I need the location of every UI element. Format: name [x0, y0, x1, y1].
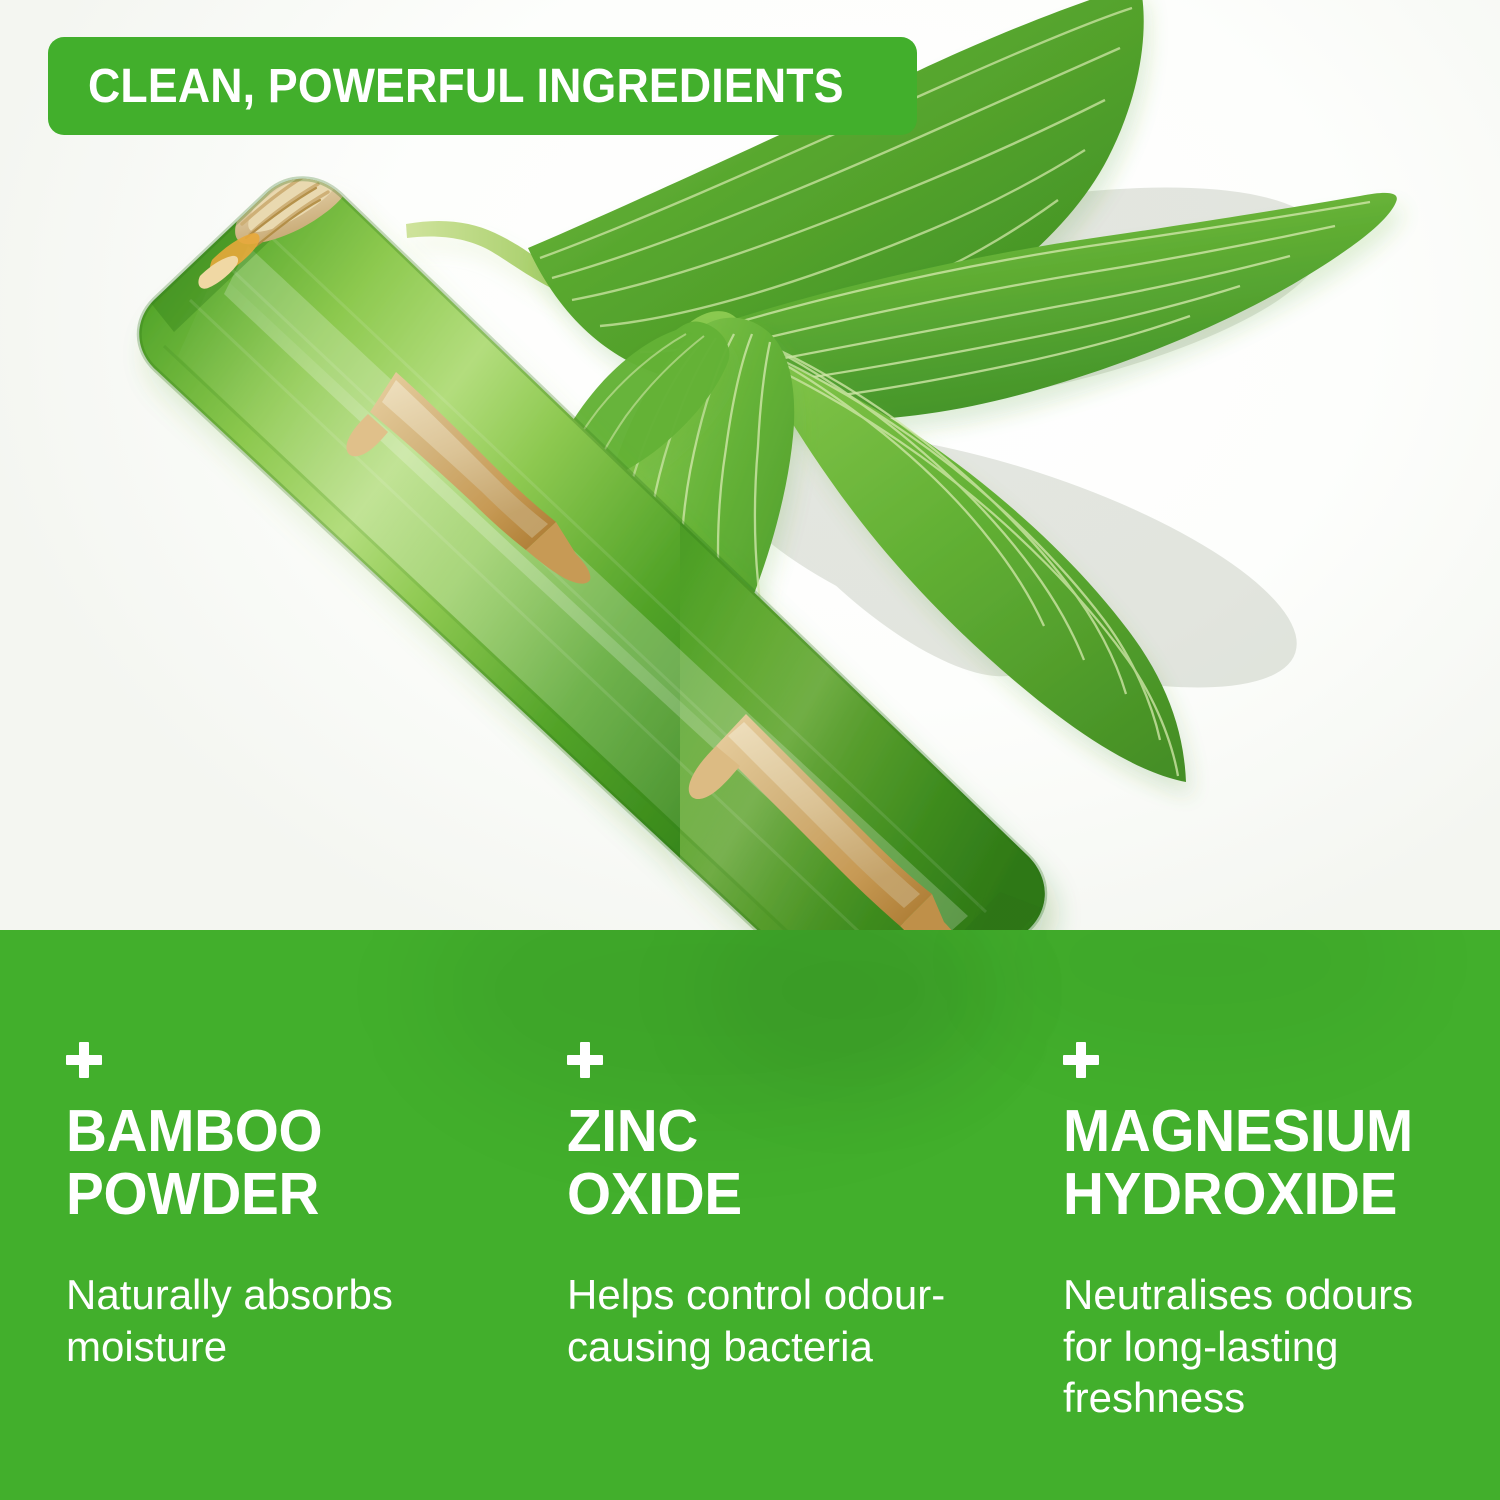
header-banner: CLEAN, POWERFUL INGREDIENTS: [48, 37, 917, 135]
header-banner-label: CLEAN, POWERFUL INGREDIENTS: [88, 59, 844, 114]
ingredient-title: MAGNESIUM HYDROXIDE: [1063, 1100, 1447, 1225]
ingredient-card-zinc-oxide: ZINC OXIDE Helps control odour- causing …: [567, 1042, 997, 1372]
plus-icon: [66, 1042, 102, 1078]
ingredient-title: BAMBOO POWDER: [66, 1100, 479, 1225]
ingredients-panel: BAMBOO POWDER Naturally absorbs moisture…: [0, 930, 1500, 1500]
ingredient-card-bamboo-powder: BAMBOO POWDER Naturally absorbs moisture: [66, 1042, 496, 1372]
bamboo-stalk: [120, 150, 1120, 1030]
plus-icon: [1063, 1042, 1099, 1078]
plus-icon: [567, 1042, 603, 1078]
ingredient-title: ZINC OXIDE: [567, 1100, 980, 1225]
ingredient-description: Naturally absorbs moisture: [66, 1269, 496, 1372]
ingredient-description: Neutralises odours for long-lasting fres…: [1063, 1269, 1463, 1424]
ingredients-columns: BAMBOO POWDER Naturally absorbs moisture…: [0, 930, 1500, 1500]
product-ingredients-infographic: BAMBOO POWDER Naturally absorbs moisture…: [0, 0, 1500, 1500]
ingredient-description: Helps control odour- causing bacteria: [567, 1269, 997, 1372]
ingredient-card-magnesium-hydroxide: MAGNESIUM HYDROXIDE Neutralises odours f…: [1063, 1042, 1463, 1424]
